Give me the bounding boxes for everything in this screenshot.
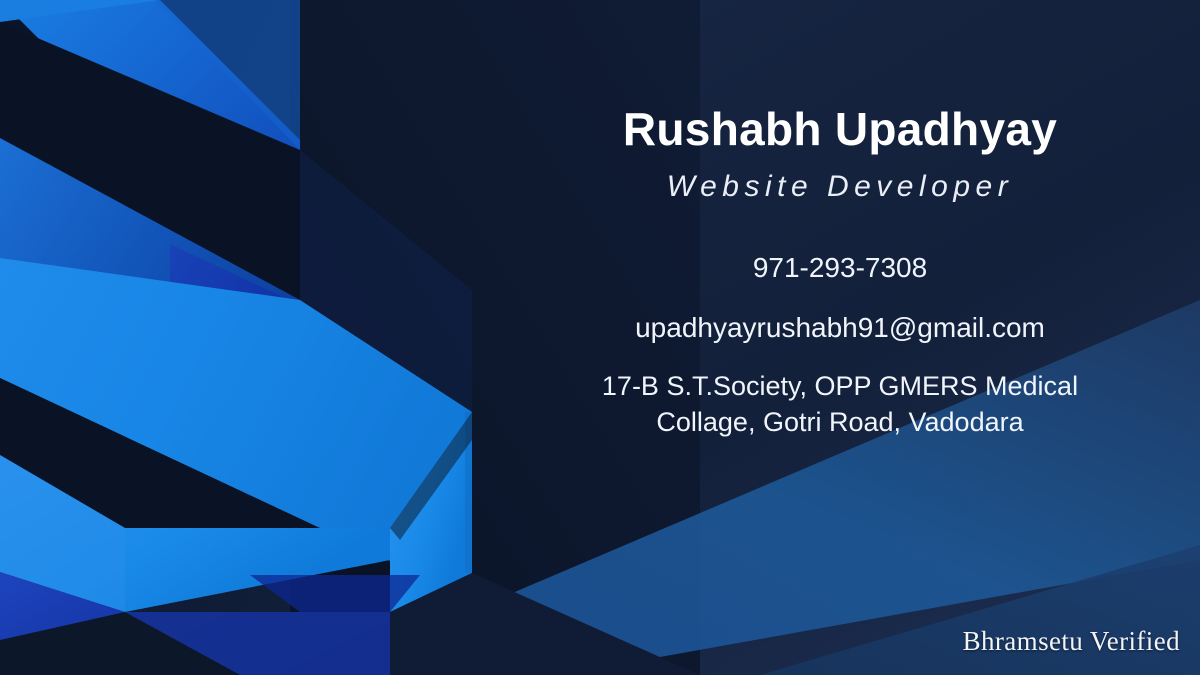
- business-card: Rushabh Upadhyay Website Developer 971-2…: [0, 0, 1200, 675]
- person-name: Rushabh Upadhyay: [623, 104, 1057, 156]
- postal-address: 17-B S.T.Society, OPP GMERS Medical Coll…: [580, 368, 1100, 440]
- verification-watermark: Bhramsetu Verified: [963, 626, 1180, 657]
- job-title: Website Developer: [667, 170, 1013, 204]
- contact-details: 971-293-7308 upadhyayrushabh91@gmail.com…: [580, 254, 1100, 440]
- card-text-block: Rushabh Upadhyay Website Developer 971-2…: [480, 0, 1200, 675]
- phone-number[interactable]: 971-293-7308: [753, 254, 927, 282]
- email-address[interactable]: upadhyayrushabh91@gmail.com: [635, 314, 1045, 342]
